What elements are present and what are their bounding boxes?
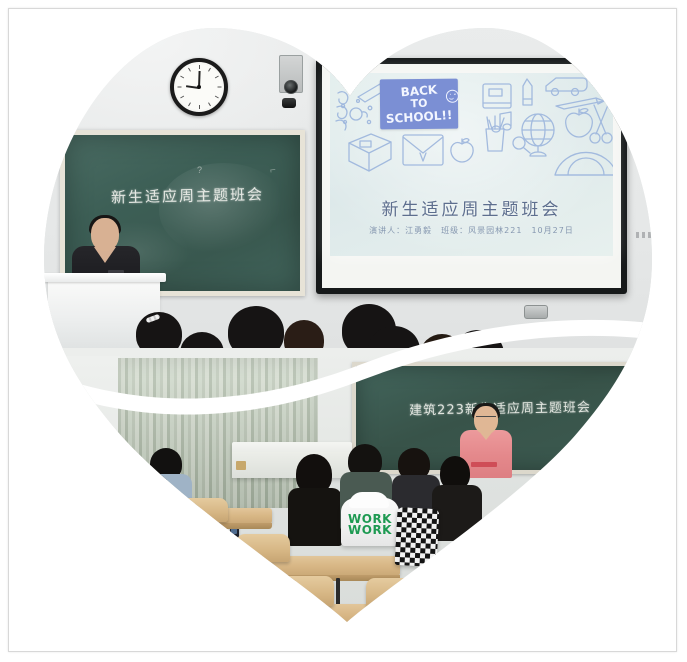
pencil-cup-doodle-icon <box>478 115 512 153</box>
envelope-doodle-icon <box>400 131 446 169</box>
magnifier-doodle-icon <box>510 135 532 155</box>
jacket-text-line-2: WORK <box>341 523 399 537</box>
paint-splash-doodle-icon <box>336 99 380 129</box>
notebook-doodle-icon <box>480 81 516 111</box>
pencil-doodle-icon <box>520 77 536 109</box>
book-doodle-icon <box>346 131 394 173</box>
hair-bun <box>232 318 252 338</box>
back-to-school-card: BACK TO SCHOOL!! <box>380 79 458 130</box>
chalk-mark: ? <box>197 165 202 175</box>
blackboard-top-text: 新生适应周主题班会 <box>85 183 290 208</box>
wall-camera-secondary-icon <box>282 98 296 108</box>
wall-camera-icon <box>279 55 303 93</box>
collage-canvas: ? ⌐ 新生适应周主题班会 <box>0 0 687 662</box>
presentation-slide: BACK TO SCHOOL!! <box>330 73 613 256</box>
teacher-desk <box>232 442 352 478</box>
chalk-mark: ⌐ <box>269 165 276 177</box>
clock-center-pin <box>197 85 201 89</box>
camera-lens-icon <box>284 80 298 94</box>
protractor-doodle-icon <box>552 141 613 181</box>
wall-outlet-icon <box>236 461 246 470</box>
wall-clock-icon <box>170 58 228 116</box>
wall-speaker-icon <box>524 305 548 319</box>
school-bus-doodle-icon <box>542 75 588 97</box>
hoodie-hood <box>349 492 389 508</box>
smiley-face-icon <box>446 90 459 103</box>
slide-title: 新生适应周主题班会 <box>330 195 613 220</box>
student-work-hoodie: WORK WORK <box>341 498 399 546</box>
slide-subtitle: 演讲人：江勇毅 班级：风景园林221 10月27日 <box>330 225 613 236</box>
apple-doodle-icon <box>448 135 476 165</box>
